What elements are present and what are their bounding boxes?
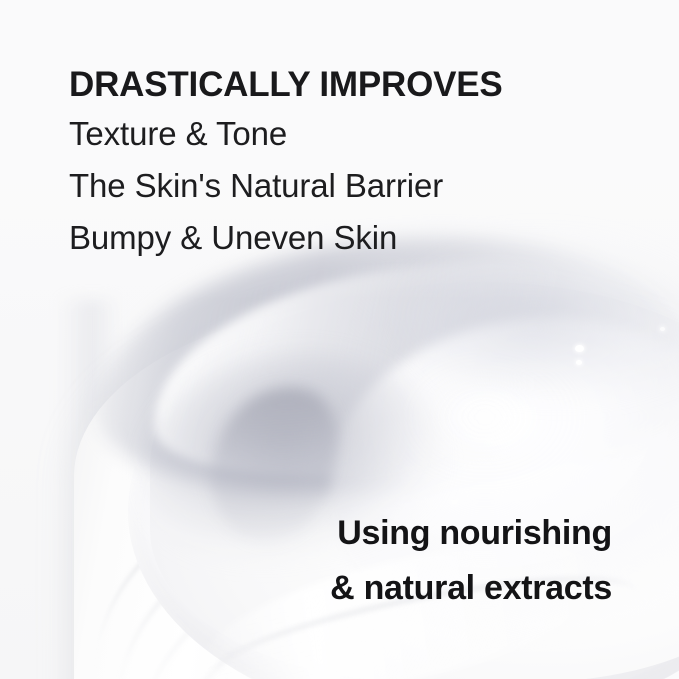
benefit-line-2: The Skin's Natural Barrier [69, 160, 629, 212]
highlight-dot [575, 345, 584, 352]
benefit-line-1: Texture & Tone [69, 108, 629, 160]
product-marketing-image: DRASTICALLY IMPROVES Texture & Tone The … [0, 0, 679, 679]
tagline-line-1: Using nourishing [160, 506, 612, 561]
highlight-dot [660, 327, 665, 331]
bottom-copy-block: Using nourishing & natural extracts [160, 506, 612, 616]
headline: DRASTICALLY IMPROVES [69, 62, 629, 108]
highlight-dot [452, 500, 457, 504]
benefit-line-3: Bumpy & Uneven Skin [69, 212, 629, 264]
highlight-dot [576, 360, 582, 365]
tagline-line-2: & natural extracts [160, 561, 612, 616]
top-copy-block: DRASTICALLY IMPROVES Texture & Tone The … [69, 62, 629, 264]
highlight-dot [487, 437, 491, 441]
